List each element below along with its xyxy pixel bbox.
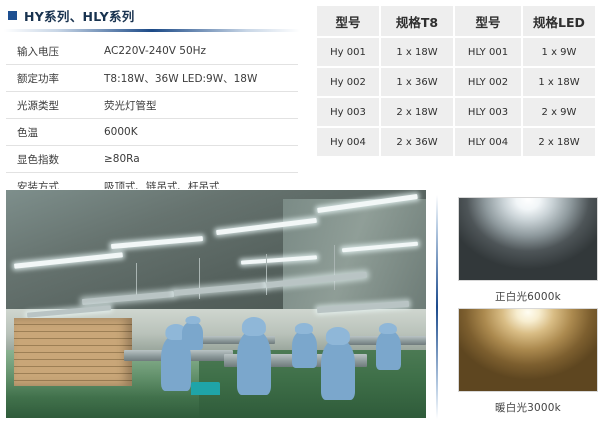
cool-white-caption: 正白光6000k xyxy=(458,289,598,304)
title-divider xyxy=(4,29,300,32)
model-table-header: 型号 规格T8 型号 规格LED xyxy=(317,6,595,36)
cell-spec-t8: 2 x 18W xyxy=(381,98,453,126)
cell-spec-led: 2 x 18W xyxy=(523,128,595,156)
warm-white-sample: 暖白光3000k xyxy=(458,308,598,415)
column-header-spec-t8: 规格T8 xyxy=(381,6,453,36)
table-row: 色温 6000K xyxy=(6,119,298,146)
worker-figure xyxy=(182,322,203,349)
spec-label: 光源类型 xyxy=(6,92,98,119)
suspension-rod xyxy=(266,254,267,295)
table-header-row: 型号 规格T8 型号 规格LED xyxy=(317,6,595,36)
column-header-spec-led: 规格LED xyxy=(523,6,595,36)
cell-model-led: HLY 001 xyxy=(455,38,521,66)
column-header-model-t8: 型号 xyxy=(317,6,379,36)
square-bullet-icon xyxy=(8,11,17,20)
page-title: HY系列、HLY系列 xyxy=(8,6,135,25)
cell-model-t8: Hy 003 xyxy=(317,98,379,126)
spec-label: 额定功率 xyxy=(6,65,98,92)
cell-spec-t8: 1 x 18W xyxy=(381,38,453,66)
cleanroom-photo xyxy=(6,190,426,418)
specification-table: 输入电压 AC220V-240V 50Hz 额定功率 T8:18W、36W LE… xyxy=(6,38,298,200)
stool xyxy=(191,382,220,396)
cell-model-led: HLY 004 xyxy=(455,128,521,156)
table-row: Hy 004 2 x 36W HLY 004 2 x 18W xyxy=(317,128,595,156)
cell-model-t8: Hy 004 xyxy=(317,128,379,156)
spec-value: 6000K xyxy=(98,119,298,146)
product-spec-page: HY系列、HLY系列 输入电压 AC220V-240V 50Hz 额定功率 T8… xyxy=(0,0,600,427)
table-row: 显色指数 ≥80Ra xyxy=(6,146,298,173)
worker-figure xyxy=(237,331,271,395)
table-row: 额定功率 T8:18W、36W LED:9W、18W xyxy=(6,65,298,92)
worker-figure xyxy=(321,340,355,399)
page-title-label: HY系列、HLY系列 xyxy=(24,6,135,25)
table-row: Hy 003 2 x 18W HLY 003 2 x 9W xyxy=(317,98,595,126)
column-header-model-led: 型号 xyxy=(455,6,521,36)
model-table-body: Hy 001 1 x 18W HLY 001 1 x 9W Hy 002 1 x… xyxy=(317,38,595,156)
model-specification-table: 型号 规格T8 型号 规格LED Hy 001 1 x 18W HLY 001 … xyxy=(315,4,597,158)
vertical-divider xyxy=(436,195,438,419)
suspension-rod xyxy=(334,245,335,291)
table-row: 输入电压 AC220V-240V 50Hz xyxy=(6,38,298,65)
warm-white-caption: 暖白光3000k xyxy=(458,400,598,415)
spec-value: AC220V-240V 50Hz xyxy=(98,38,298,65)
table-row: 光源类型 荧光灯管型 xyxy=(6,92,298,119)
cool-white-light-image xyxy=(458,197,598,281)
specification-table-body: 输入电压 AC220V-240V 50Hz 额定功率 T8:18W、36W LE… xyxy=(6,38,298,200)
cell-model-t8: Hy 001 xyxy=(317,38,379,66)
cell-spec-t8: 2 x 36W xyxy=(381,128,453,156)
worker-figure xyxy=(376,331,401,370)
spec-label: 显色指数 xyxy=(6,146,98,173)
cell-spec-t8: 1 x 36W xyxy=(381,68,453,96)
cell-spec-led: 1 x 18W xyxy=(523,68,595,96)
table-row: Hy 002 1 x 36W HLY 002 1 x 18W xyxy=(317,68,595,96)
cell-model-t8: Hy 002 xyxy=(317,68,379,96)
cell-model-led: HLY 003 xyxy=(455,98,521,126)
spec-value: 荧光灯管型 xyxy=(98,92,298,119)
cool-white-sample: 正白光6000k xyxy=(458,197,598,304)
cell-spec-led: 2 x 9W xyxy=(523,98,595,126)
worker-figure xyxy=(292,331,317,367)
table-row: Hy 001 1 x 18W HLY 001 1 x 9W xyxy=(317,38,595,66)
spec-value: T8:18W、36W LED:9W、18W xyxy=(98,65,298,92)
cell-model-led: HLY 002 xyxy=(455,68,521,96)
spec-label: 色温 xyxy=(6,119,98,146)
spec-label: 输入电压 xyxy=(6,38,98,65)
warm-white-light-image xyxy=(458,308,598,392)
carton-stack xyxy=(14,318,132,386)
cell-spec-led: 1 x 9W xyxy=(523,38,595,66)
spec-value: ≥80Ra xyxy=(98,146,298,173)
